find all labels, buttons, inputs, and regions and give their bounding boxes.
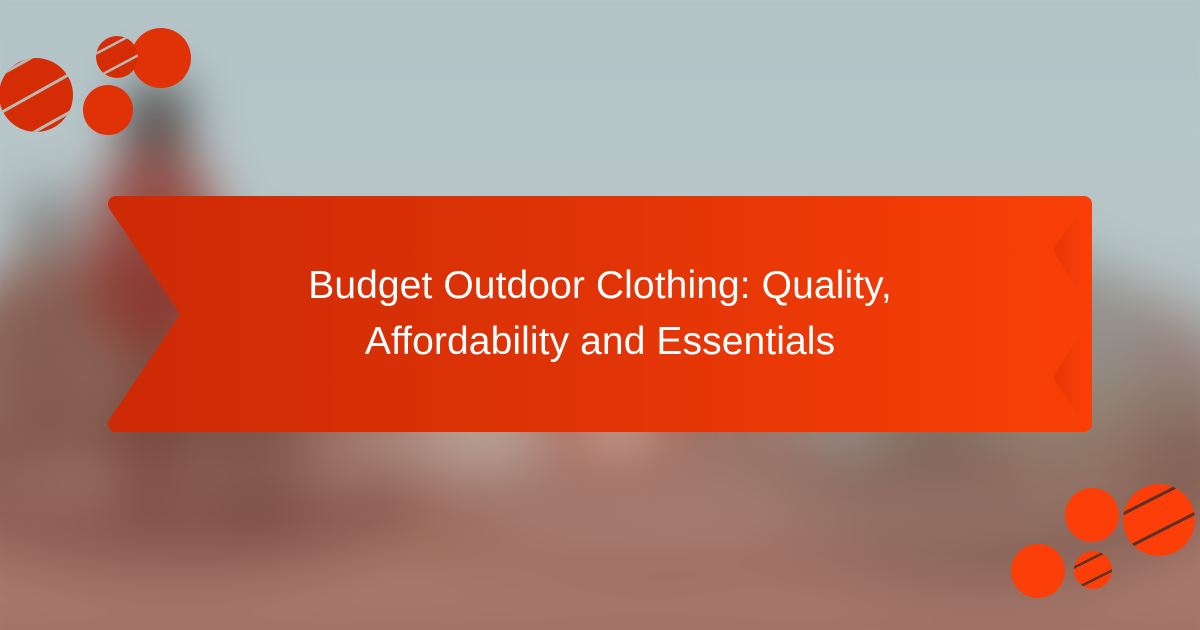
background-figure xyxy=(0,240,98,430)
plain-circle-medium xyxy=(83,85,133,135)
bottom-right-circle-cluster xyxy=(995,470,1200,630)
plain-circle-medium xyxy=(1065,488,1119,542)
top-left-circle-cluster xyxy=(0,0,210,150)
page-title-line-1: Budget Outdoor Clothing: Quality, xyxy=(308,258,892,314)
striped-circle-large xyxy=(1115,462,1200,590)
striped-circle-large xyxy=(0,22,95,168)
page-title-line-2: Affordability and Essentials xyxy=(365,314,835,370)
plain-circle-large xyxy=(131,28,191,88)
plain-circle-large xyxy=(1011,544,1065,598)
banner-canvas: Budget Outdoor Clothing: Quality, Afford… xyxy=(0,0,1200,630)
striped-circle-small xyxy=(1067,542,1125,593)
banner-title-block: Budget Outdoor Clothing: Quality, Afford… xyxy=(108,196,1092,432)
